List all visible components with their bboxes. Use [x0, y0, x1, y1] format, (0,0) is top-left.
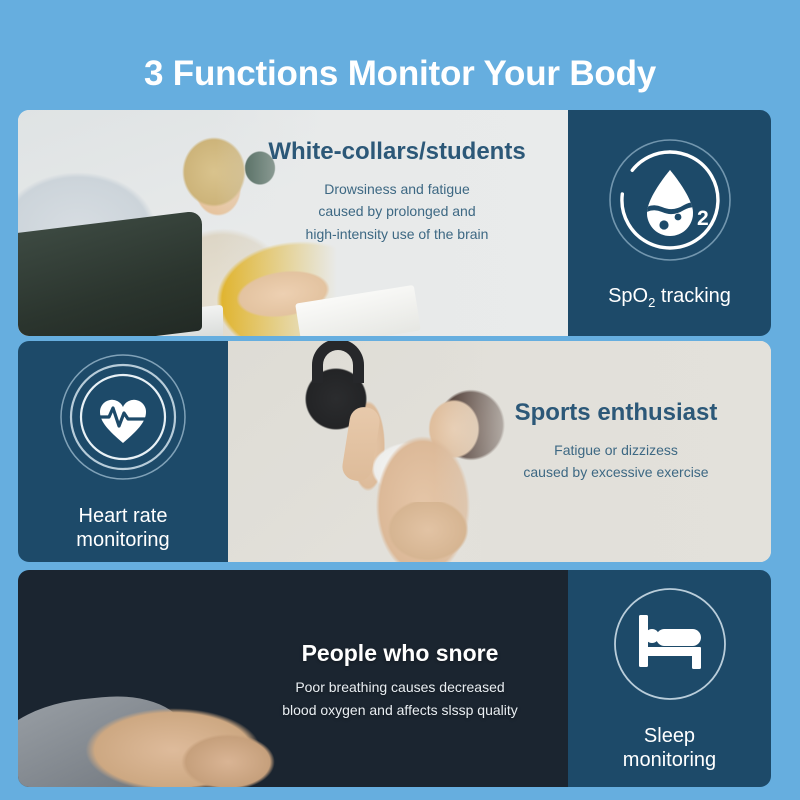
white-collars-body-line-1: Drowsiness and fatigue [232, 178, 562, 201]
feature-panel-spo2[interactable]: 2 SpO2 tracking [568, 110, 771, 336]
photo-sports-enthusiast: Sports enthusiast Fatigue or dizzizess c… [228, 341, 771, 562]
heart-rate-label-line-1: Heart rate [76, 504, 169, 528]
arm-shape [168, 727, 288, 787]
white-collars-body-line-2: caused by prolonged and [232, 200, 562, 223]
snore-text-block: People who snore Poor breathing causes d… [240, 640, 560, 721]
sports-text-block: Sports enthusiast Fatigue or dizzizess c… [471, 399, 761, 484]
snore-headline: People who snore [240, 640, 560, 666]
feature-panel-heart-rate[interactable]: Heart rate monitoring [18, 341, 228, 562]
spo2-label-suffix: tracking [655, 285, 731, 307]
kettlebell-handle-shape [312, 341, 364, 383]
heart-rate-label-line-2: monitoring [76, 528, 169, 552]
white-collars-text-block: White-collars/students Drowsiness and fa… [232, 138, 562, 246]
white-collars-headline: White-collars/students [232, 138, 562, 166]
feature-card-people-who-snore[interactable]: People who snore Poor breathing causes d… [18, 570, 771, 787]
sports-body-line-2: caused by excessive exercise [471, 461, 761, 484]
sleep-label-line-2: monitoring [623, 748, 716, 772]
snore-body-line-2: blood oxygen and affects slssp quality [240, 699, 560, 721]
photo-white-collars: White-collars/students Drowsiness and fa… [18, 110, 568, 336]
feature-card-white-collars[interactable]: White-collars/students Drowsiness and fa… [18, 110, 771, 336]
spo2-label-subscript: 2 [648, 295, 655, 310]
feature-panel-sleep[interactable]: Sleep monitoring [568, 570, 771, 787]
sports-headline: Sports enthusiast [471, 399, 761, 427]
feature-card-sports-enthusiast[interactable]: Heart rate monitoring Sports enthusiast … [18, 341, 771, 562]
spo2-label-prefix: SpO [608, 285, 648, 307]
sleep-label-line-1: Sleep [623, 724, 716, 748]
heart-pulse-icon [57, 351, 189, 488]
sports-body-line-1: Fatigue or dizzizess [471, 439, 761, 462]
spo2-tracking-label: SpO2 tracking [608, 284, 731, 308]
white-collars-body-line-3: high-intensity use of the brain [232, 223, 562, 246]
torso-lower-shape [378, 502, 478, 562]
photo-people-who-snore: People who snore Poor breathing causes d… [18, 570, 568, 787]
spo2-droplet-icon: 2 [607, 137, 733, 268]
sleep-monitoring-label: Sleep monitoring [623, 724, 716, 773]
heart-rate-label: Heart rate monitoring [76, 504, 169, 553]
page-title: 3 Functions Monitor Your Body [0, 56, 800, 91]
laptop-screen-shape [18, 210, 202, 336]
snore-body-line-1: Poor breathing causes decreased [240, 676, 560, 698]
svg-text:2: 2 [697, 207, 709, 230]
bed-sleep-icon [611, 585, 729, 708]
